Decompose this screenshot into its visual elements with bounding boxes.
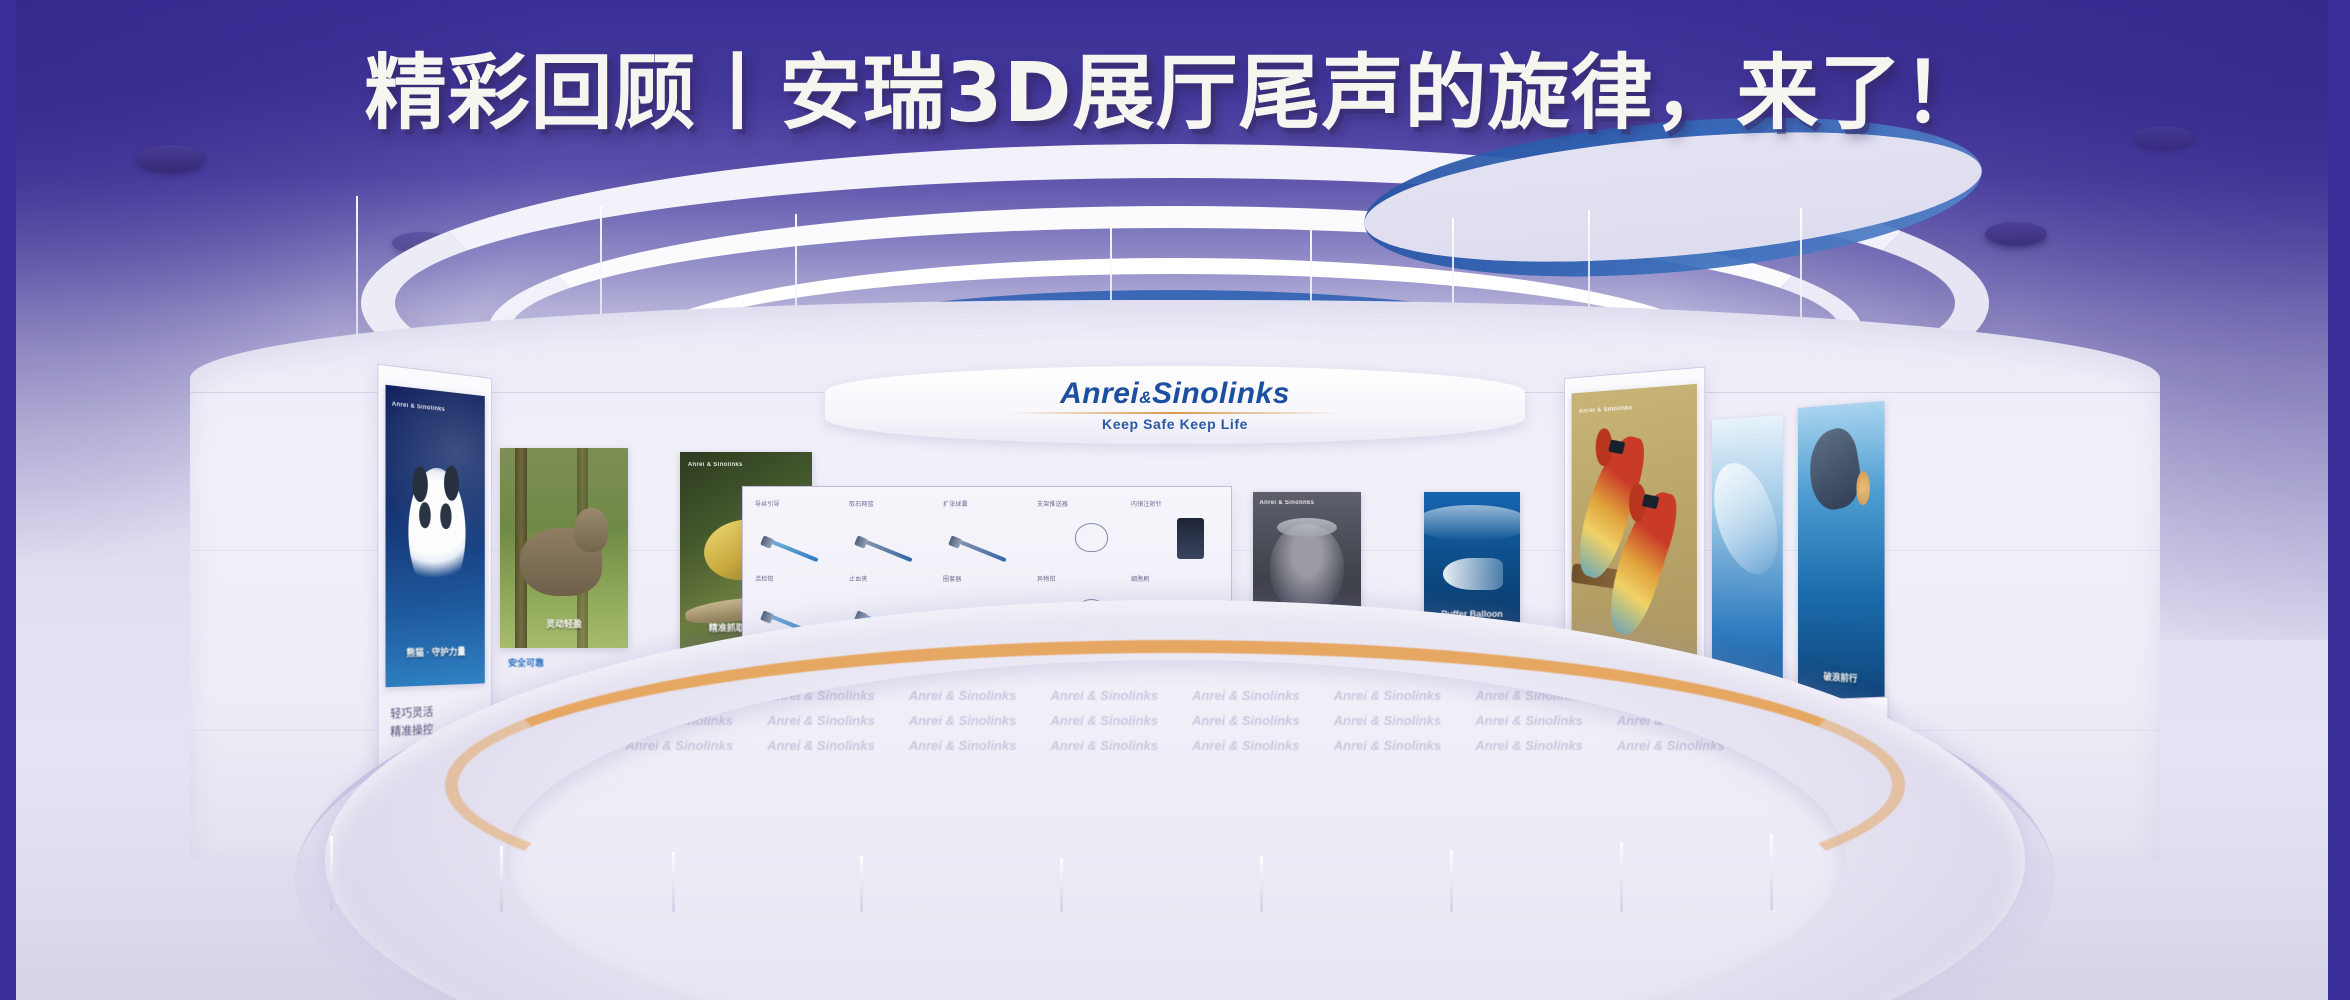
railing-post: [1260, 856, 1263, 912]
ceiling-spotlight: [1985, 222, 2047, 246]
panda-eye-right: [440, 503, 451, 530]
brand-logo-band: Anrei&Sinolinks Keep Safe Keep Life: [825, 366, 1525, 444]
brand-name-part2: Sinolinks: [1152, 377, 1290, 410]
product-label: 异物钳: [1037, 574, 1056, 583]
product-cell[interactable]: 导丝引导: [753, 499, 845, 572]
product-label: 扩张球囊: [943, 499, 968, 508]
product-illustration: [856, 520, 924, 558]
ceiling-spotlight: [138, 145, 204, 171]
poster-brandmark: Anrei & Sinolinks: [1579, 405, 1633, 415]
railing-post: [1620, 842, 1623, 912]
railing-post: [1060, 858, 1063, 912]
product-label: 细胞刷: [1131, 574, 1150, 583]
poster-panda: Anrei & Sinolinks 熊猫 · 守护力量: [386, 385, 485, 687]
bird-upper-beak: [1608, 439, 1625, 454]
poster-caption: 灵动轻盈: [508, 618, 621, 630]
brand-logo-rule: [1010, 412, 1340, 414]
panda-ear-left: [412, 466, 427, 503]
poster-deer[interactable]: 灵动轻盈: [500, 448, 628, 648]
whale-wave: [1424, 505, 1520, 541]
product-label: 圈套器: [943, 574, 962, 583]
product-label: 活检钳: [755, 574, 774, 583]
product-cell[interactable]: 内镜注射针: [1129, 499, 1221, 572]
product-illustration: [950, 520, 1018, 558]
railing-post: [1450, 850, 1453, 912]
product-illustration: [1044, 520, 1112, 558]
podium-orange-accent-band: [445, 640, 1905, 930]
railing-post: [330, 836, 333, 910]
poster-brandmark: Anrei & Sinolinks: [1259, 500, 1314, 506]
product-label: 取石网篮: [849, 499, 874, 508]
whale-body: [1443, 558, 1503, 591]
badger-face: [1270, 524, 1343, 608]
panda-ear-right: [444, 465, 459, 501]
railing-post: [672, 852, 675, 912]
brand-name-part1: Anrei: [1060, 377, 1139, 410]
product-cell[interactable]: 扩张球囊: [941, 499, 1033, 572]
product-illustration: [1177, 518, 1205, 559]
poster-brandmark: Anrei & Sinolinks: [688, 462, 743, 468]
brand-ampersand: &: [1139, 388, 1152, 407]
poster-caption: 熊猫 · 守护力量: [392, 645, 479, 659]
sun-shape: [1856, 471, 1870, 506]
sea-bird-shape: [1804, 424, 1866, 513]
product-illustration: [762, 520, 830, 558]
frame-edge-right: [2328, 0, 2350, 1000]
railing-post: [500, 846, 503, 912]
railing-post: [1770, 834, 1773, 910]
poster-brandmark: Anrei & Sinolinks: [392, 401, 445, 413]
deer-head: [574, 508, 607, 552]
product-cell[interactable]: 支架推送器: [1035, 499, 1127, 572]
product-label: 导丝引导: [755, 499, 780, 508]
page-title: 精彩回顾丨安瑞3D展厅尾声的旋律，来了！: [0, 26, 2350, 145]
railing-post: [860, 856, 863, 912]
brand-logo-text: Anrei&Sinolinks: [1060, 379, 1290, 409]
brand-tagline: Keep Safe Keep Life: [1102, 416, 1248, 432]
product-label: 止血夹: [849, 574, 868, 583]
panel-caption-line1: 轻巧灵活: [390, 704, 433, 724]
product-label: 内镜注射针: [1131, 499, 1162, 508]
frame-edge-left: [0, 0, 16, 1000]
panda-eye-left: [419, 502, 430, 529]
product-label: 支架推送器: [1037, 499, 1068, 508]
showroom-screenshot: Anrei&Sinolinks Keep Safe Keep Life Anre…: [0, 0, 2350, 1000]
blue-wave-streak: [1712, 453, 1783, 582]
product-cell[interactable]: 取石网篮: [847, 499, 939, 572]
